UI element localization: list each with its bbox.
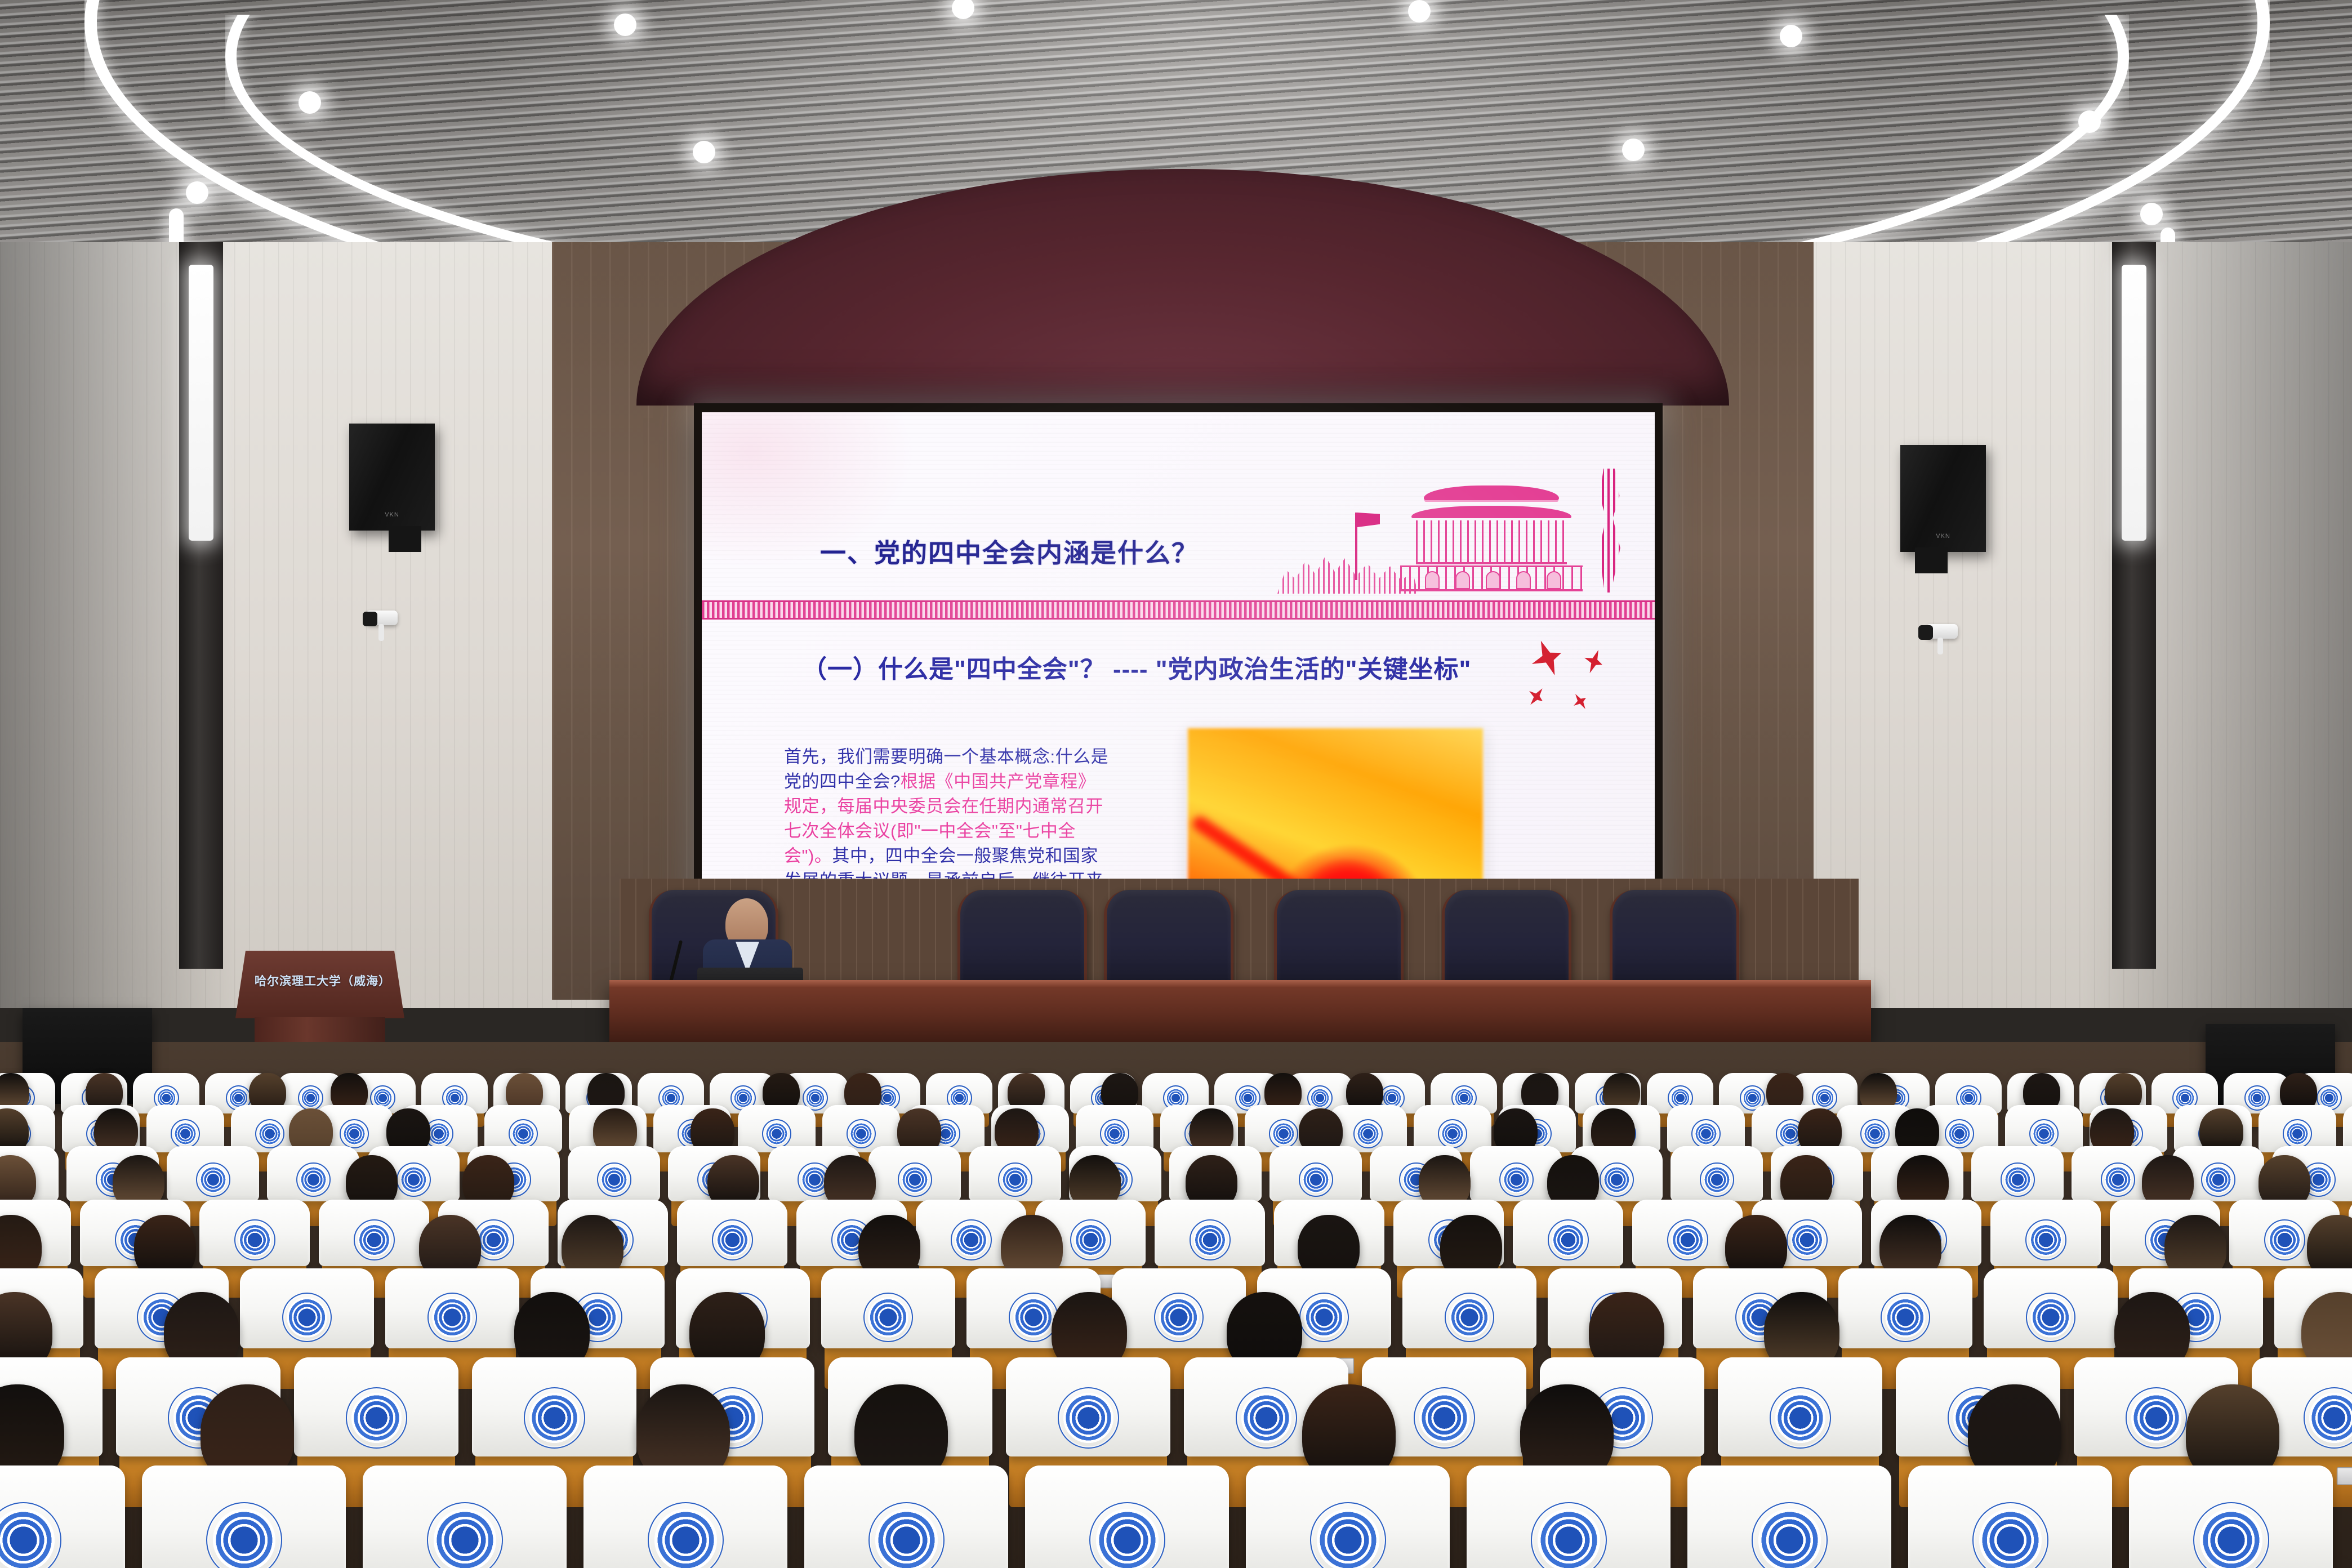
seat-university-logo (340, 1119, 369, 1148)
podium-institution-label: 哈尔滨理工大学（威海） (252, 972, 393, 989)
seat-university-logo (1752, 1502, 1828, 1568)
seat-university-logo (427, 1502, 503, 1568)
tiananmen-gate-illustration (1283, 469, 1632, 604)
head-table-chair (1442, 890, 1571, 987)
seat-university-logo (1445, 1293, 1494, 1342)
red-bird-icon (1523, 683, 1549, 710)
seat-university-logo (1548, 1219, 1589, 1260)
slide-divider-pattern (702, 600, 1655, 620)
pillar-light-strip-left (189, 265, 213, 541)
seat-university-logo (509, 1119, 538, 1148)
huabiao-pillar-illustration (1591, 469, 1628, 593)
wall-speaker-right: VKN (1900, 445, 1986, 552)
seat-university-logo (1070, 1219, 1111, 1260)
seat-university-logo (1009, 1293, 1058, 1342)
tiananmen-gate-arch (1516, 571, 1531, 589)
seat-university-logo (648, 1502, 724, 1568)
seat-university-logo (2193, 1502, 2269, 1568)
led-node-icon (299, 91, 321, 114)
red-bird-icon (1569, 691, 1591, 714)
seat-university-logo (951, 1219, 992, 1260)
seat-number-tag (2336, 1467, 2352, 1485)
camera-lens-icon (363, 612, 377, 626)
lecture-hall-photo: VKN VKN (0, 0, 2352, 1568)
head-table-chair (957, 890, 1087, 987)
seat-university-logo (255, 1119, 284, 1148)
tiananmen-gate-arch (1425, 571, 1440, 589)
seat-university-logo (196, 1162, 230, 1197)
seat-university-logo (427, 1293, 477, 1342)
seat-university-logo (1787, 1219, 1828, 1260)
led-node-icon (1780, 25, 1802, 47)
seat-university-logo (1414, 1387, 1475, 1449)
seat-university-logo (1691, 1119, 1721, 1148)
tiananmen-upper-roof (1424, 485, 1559, 500)
seat-university-logo (898, 1162, 932, 1197)
seat-university-logo (2201, 1162, 2235, 1197)
tiananmen-gate-arch (1455, 571, 1470, 589)
seat-university-logo (1770, 1387, 1831, 1449)
slide-title: 一、党的四中全会内涵是什么？ (820, 533, 1199, 570)
flag-pole (1355, 513, 1357, 580)
speaker-brand-label: VKN (349, 511, 435, 518)
seat-university-logo (2025, 1219, 2066, 1260)
led-node-icon (186, 181, 208, 204)
presentation-slide: 一、党的四中全会内涵是什么？ （一）什么是"四中全会"？ ---- "党内政治生… (702, 412, 1655, 907)
seat-university-logo (282, 1293, 332, 1342)
led-node-icon (2140, 203, 2163, 225)
seat-university-logo (2001, 1162, 2035, 1197)
head-table-chair (1610, 890, 1739, 987)
tiananmen-gate-arch (1547, 571, 1561, 589)
seat-university-logo (2126, 1387, 2187, 1449)
seat-university-logo (1881, 1293, 1930, 1342)
seat-university-logo (762, 1119, 791, 1148)
speaker-mount-bracket-left (389, 526, 421, 552)
red-flag-icon (1357, 513, 1380, 527)
seat-university-logo (1700, 1162, 1734, 1197)
head-table-desk (609, 980, 1871, 1042)
seat-university-logo (2264, 1219, 2305, 1260)
led-node-icon (2078, 110, 2101, 133)
led-node-icon (693, 141, 715, 163)
seat-university-logo (1972, 1502, 2048, 1568)
tiananmen-body (1416, 520, 1567, 564)
seat-university-logo (597, 1162, 631, 1197)
crowd-pattern-illustration (1277, 543, 1418, 594)
seat-university-logo (1860, 1119, 1890, 1148)
led-node-icon (614, 14, 636, 36)
seat-university-logo (1499, 1162, 1534, 1197)
seat-university-logo (234, 1219, 275, 1260)
seat-university-logo (712, 1219, 753, 1260)
seat-university-logo (1190, 1219, 1231, 1260)
seat-university-logo (1945, 1119, 1974, 1148)
seat-university-logo (206, 1502, 282, 1568)
seat-university-logo (1531, 1502, 1607, 1568)
seat-university-logo (1089, 1502, 1165, 1568)
red-bird-icon (1580, 646, 1607, 676)
seat-university-logo (1299, 1293, 1349, 1342)
speaker-brand-label: VKN (1900, 533, 1986, 540)
head-table-desk-edge (609, 980, 1871, 987)
seat-university-logo (2101, 1162, 2135, 1197)
seat-university-logo (998, 1162, 1032, 1197)
led-node-icon (1408, 0, 1431, 23)
seat-university-logo (171, 1119, 200, 1148)
pillar-light-strip-right (2122, 265, 2146, 541)
camera-mount-arm-left (378, 624, 384, 641)
seat-university-logo (863, 1293, 913, 1342)
seat-university-logo (1600, 1162, 1634, 1197)
seat-university-logo (847, 1119, 876, 1148)
seat-university-logo (868, 1502, 945, 1568)
slide-subtitle: （一）什么是"四中全会"？ ---- "党内政治生活的"关键坐标" (802, 649, 1471, 685)
speaker-mount-bracket-right (1915, 547, 1948, 573)
seat-university-logo (1667, 1219, 1708, 1260)
projection-screen[interactable]: 一、党的四中全会内涵是什么？ （一）什么是"四中全会"？ ---- "党内政治生… (694, 403, 1663, 916)
led-node-icon (1622, 139, 1645, 161)
seat-university-logo (346, 1387, 407, 1449)
seat-university-logo (1100, 1119, 1129, 1148)
head-table-chair (1274, 890, 1404, 987)
seat-university-logo (1438, 1119, 1467, 1148)
seat-university-logo (1310, 1502, 1386, 1568)
seat-university-logo (2029, 1119, 2059, 1148)
wall-speaker-left: VKN (349, 424, 435, 531)
seat-university-logo (1236, 1387, 1297, 1449)
seat-university-logo (354, 1219, 395, 1260)
seat-university-logo (1154, 1293, 1204, 1342)
seat-university-logo (1269, 1119, 1298, 1148)
audience-seat[interactable] (2343, 1105, 2352, 1152)
seat-university-logo (296, 1162, 331, 1197)
seat-university-logo (1299, 1162, 1333, 1197)
seat-university-logo (524, 1387, 585, 1449)
head-table-chair (1104, 890, 1233, 987)
camera-mount-arm-right (1937, 638, 1943, 654)
seat-university-logo (397, 1162, 431, 1197)
seat-university-logo (1353, 1119, 1383, 1148)
tiananmen-lower-roof (1411, 506, 1571, 518)
seat-university-logo (2283, 1119, 2312, 1148)
red-bird-icon (1526, 636, 1567, 681)
camera-lens-icon (1918, 625, 1933, 640)
tiananmen-gate-arch (1486, 571, 1500, 589)
seat-university-logo (2026, 1293, 2075, 1342)
seat-university-logo (1058, 1387, 1119, 1449)
